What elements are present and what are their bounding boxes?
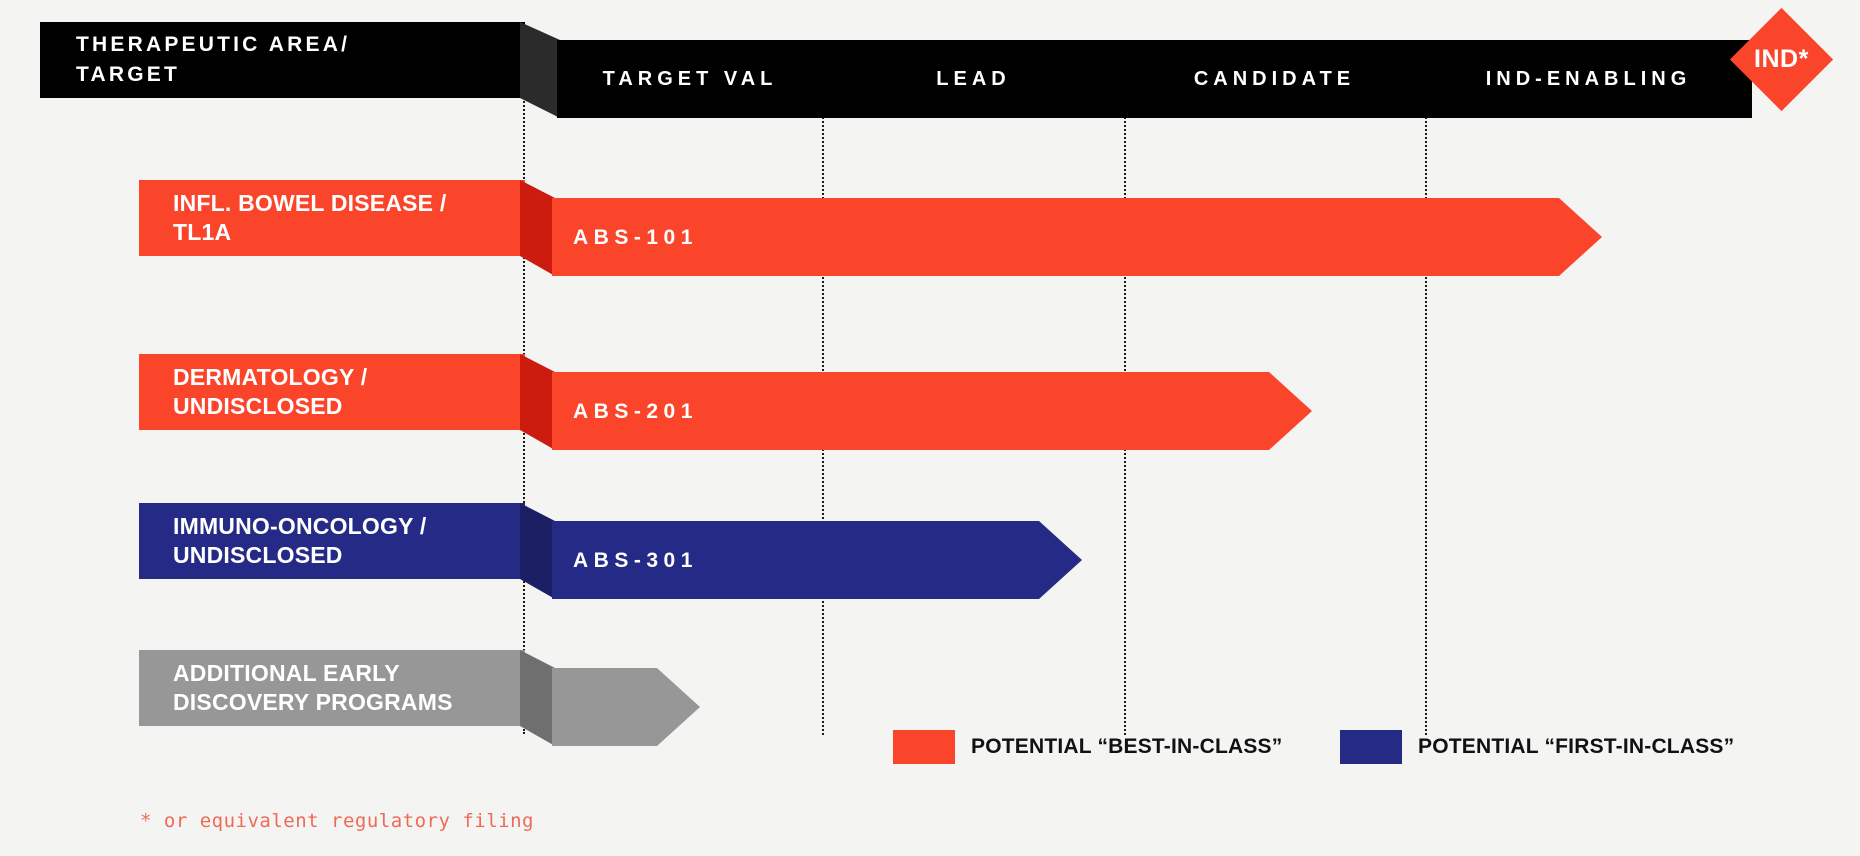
row-program-abs-201: ABS-201 bbox=[573, 400, 698, 424]
row-bar-abs-101 bbox=[552, 198, 1602, 276]
legend-item-best-in-class: POTENTIAL “BEST-IN-CLASS” bbox=[893, 730, 1282, 764]
row-label-additional-early-discovery: ADDITIONAL EARLY DISCOVERY PROGRAMS bbox=[139, 650, 525, 726]
row-label-dermatology: DERMATOLOGY / UNDISCLOSED bbox=[139, 354, 525, 430]
row-label-text: INFL. BOWEL DISEASE / TL1A bbox=[139, 189, 446, 248]
row-program-abs-101: ABS-101 bbox=[573, 226, 698, 250]
header-column-label: TARGET VAL bbox=[603, 68, 778, 91]
header-column-label: CANDIDATE bbox=[1194, 68, 1355, 91]
legend-swatch-first-in-class bbox=[1340, 730, 1402, 764]
header-column-label: LEAD bbox=[936, 68, 1010, 91]
row-program-abs-301: ABS-301 bbox=[573, 549, 698, 573]
legend-item-first-in-class: POTENTIAL “FIRST-IN-CLASS” bbox=[1340, 730, 1734, 764]
gridline-ind-enabling bbox=[1425, 40, 1427, 735]
header-column-label: IND-ENABLING bbox=[1486, 68, 1692, 91]
row-fold-1 bbox=[520, 180, 555, 276]
header-column-target-val: TARGET VAL bbox=[557, 40, 823, 118]
footnote-regulatory-filing: * or equivalent regulatory filing bbox=[140, 810, 534, 832]
row-fold-2 bbox=[520, 354, 555, 450]
row-bar-discovery bbox=[552, 668, 700, 746]
header-left-title: THERAPEUTIC AREA/ TARGET bbox=[40, 30, 350, 91]
legend-swatch-best-in-class bbox=[893, 730, 955, 764]
header-column-lead: LEAD bbox=[823, 40, 1124, 118]
header-fold bbox=[520, 22, 560, 118]
row-label-immuno-oncology: IMMUNO-ONCOLOGY / UNDISCLOSED bbox=[139, 503, 525, 579]
legend-label-best-in-class: POTENTIAL “BEST-IN-CLASS” bbox=[971, 735, 1282, 759]
row-fold-3 bbox=[520, 503, 555, 599]
row-label-text: IMMUNO-ONCOLOGY / UNDISCLOSED bbox=[139, 512, 426, 571]
header-column-candidate: CANDIDATE bbox=[1124, 40, 1425, 118]
row-fold-4 bbox=[520, 650, 555, 746]
milestone-label: IND* bbox=[1754, 45, 1809, 74]
pipeline-chart: THERAPEUTIC AREA/ TARGET TARGET VAL LEAD… bbox=[0, 0, 1860, 856]
legend-label-first-in-class: POTENTIAL “FIRST-IN-CLASS” bbox=[1418, 735, 1734, 759]
header-column-ind-enabling: IND-ENABLING bbox=[1425, 40, 1752, 118]
row-label-infl-bowel-disease: INFL. BOWEL DISEASE / TL1A bbox=[139, 180, 525, 256]
row-label-text: DERMATOLOGY / UNDISCLOSED bbox=[139, 363, 367, 422]
header-left-block: THERAPEUTIC AREA/ TARGET bbox=[40, 22, 525, 98]
row-label-text: ADDITIONAL EARLY DISCOVERY PROGRAMS bbox=[139, 659, 453, 718]
